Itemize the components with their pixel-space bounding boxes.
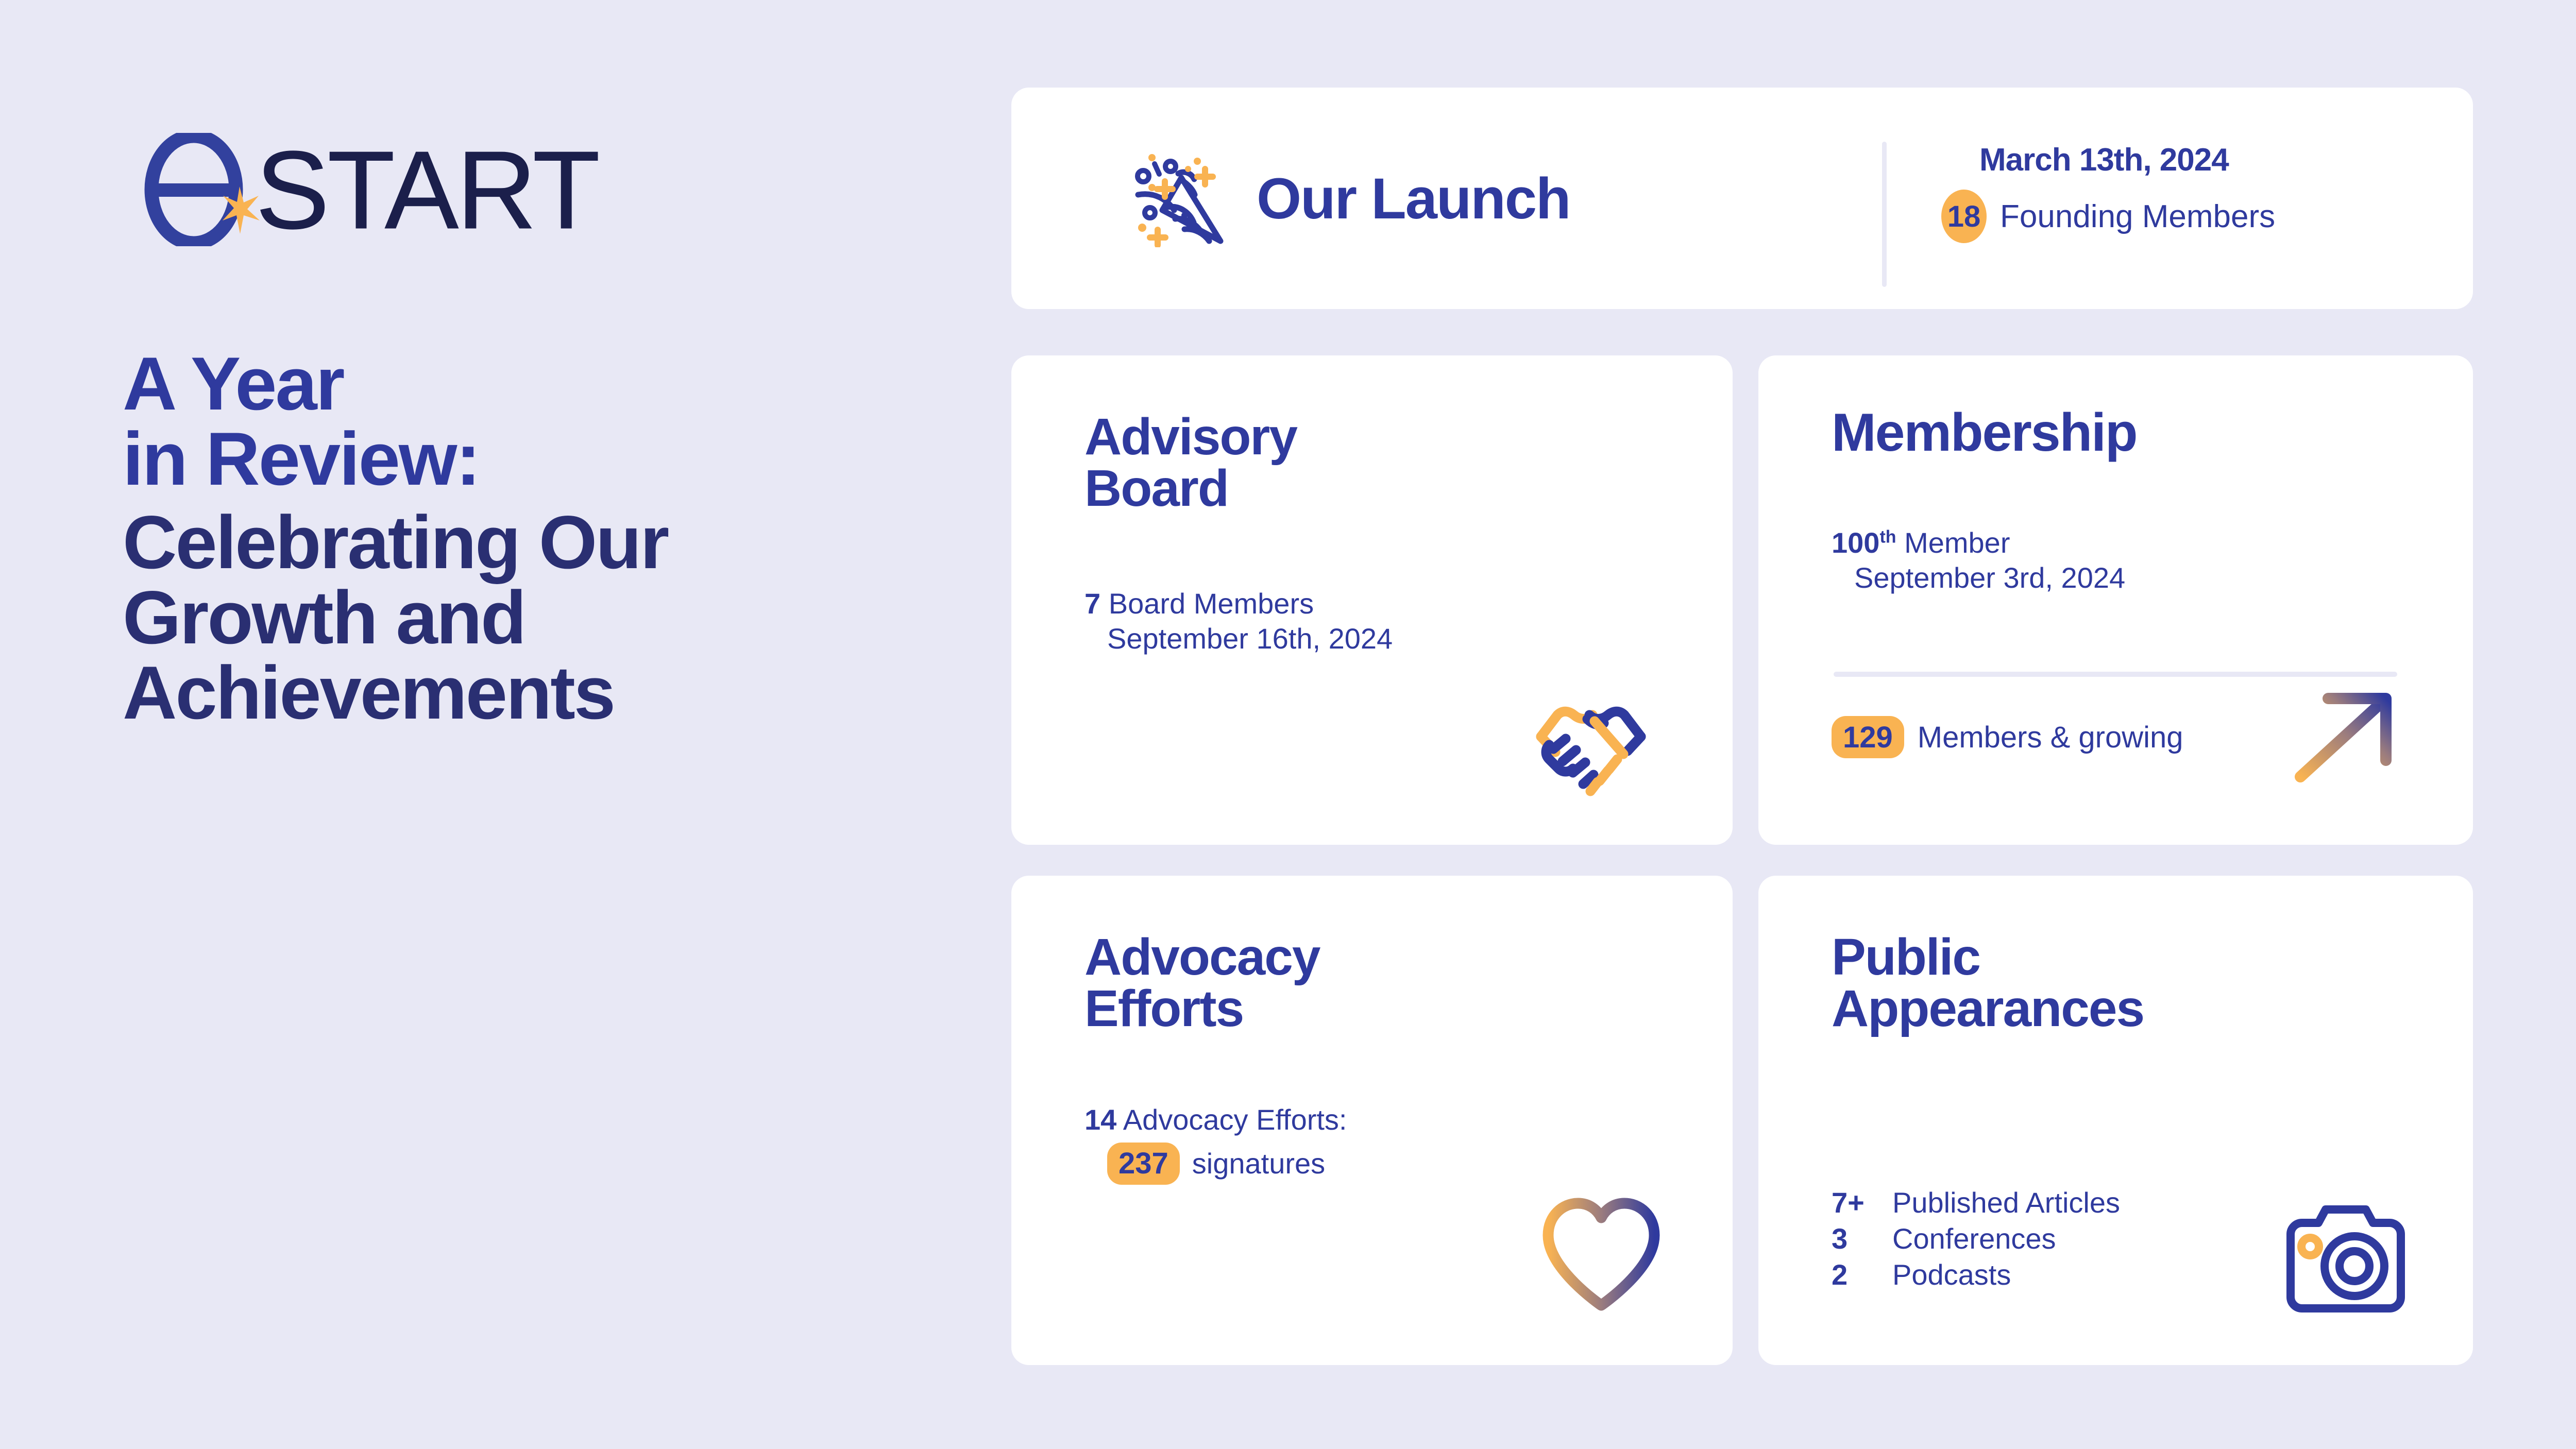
founding-members-label: Founding Members xyxy=(2000,198,2275,235)
headline-line-2: in Review: xyxy=(123,421,926,497)
membership-count-badge: 129 xyxy=(1832,716,1904,758)
launch-card-right: March 13th, 2024 18 Founding Members xyxy=(1941,142,2275,243)
public-row-count: 7+ xyxy=(1832,1185,1892,1221)
advisory-stat-line-1: 7 Board Members xyxy=(1084,586,1393,621)
card-advocacy-efforts: Advocacy Efforts 14 Advocacy Efforts: 23… xyxy=(1011,876,1733,1365)
heart-icon xyxy=(1537,1191,1666,1320)
card-advisory-board: Advisory Board 7 Board Members September… xyxy=(1011,355,1733,845)
membership-divider xyxy=(1834,672,2397,677)
page-title: A Year in Review: Celebrating Our Growth… xyxy=(123,346,926,730)
membership-stat-date: September 3rd, 2024 xyxy=(1832,560,2125,595)
advisory-title-line-2: Board xyxy=(1084,463,1297,514)
public-title-line-1: Public xyxy=(1832,931,2144,983)
launch-card-divider xyxy=(1882,142,1887,287)
advisory-title-line-1: Advisory xyxy=(1084,411,1297,463)
advisory-stat-label: Board Members xyxy=(1109,587,1314,620)
advocacy-signature-label: signatures xyxy=(1192,1146,1325,1181)
list-item: 3 Conferences xyxy=(1832,1221,2120,1257)
launch-card-left: Our Launch xyxy=(1124,149,1570,247)
growth-arrow-icon xyxy=(2284,683,2402,791)
headline-line-5: Achievements xyxy=(123,655,926,730)
card-our-launch: Our Launch March 13th, 2024 18 Founding … xyxy=(1011,88,2473,309)
left-panel: START A Year in Review: Celebrating Our … xyxy=(0,0,1010,1449)
launch-date: March 13th, 2024 xyxy=(1979,142,2275,178)
handshake-icon xyxy=(1527,689,1655,803)
launch-title: Our Launch xyxy=(1257,165,1570,232)
advocacy-stat-label: Advocacy Efforts: xyxy=(1123,1103,1347,1136)
card-membership: Membership 100th Member September 3rd, 2… xyxy=(1758,355,2473,845)
advocacy-efforts-stats: 14 Advocacy Efforts: 237 signatures xyxy=(1084,1102,1347,1185)
membership-stat-ordinal: th xyxy=(1879,527,1896,547)
advocacy-title-line-2: Efforts xyxy=(1084,983,1319,1034)
public-row-label: Podcasts xyxy=(1892,1257,2011,1293)
public-row-label: Conferences xyxy=(1892,1221,2056,1257)
list-item: 7+ Published Articles xyxy=(1832,1185,2120,1221)
membership-growth-label: Members & growing xyxy=(1918,720,2183,755)
list-item: 2 Podcasts xyxy=(1832,1257,2120,1293)
founding-members-badge: 18 xyxy=(1941,190,1987,243)
advisory-stat-number: 7 xyxy=(1084,587,1100,620)
public-appearances-title: Public Appearances xyxy=(1832,931,2144,1034)
advocacy-efforts-title: Advocacy Efforts xyxy=(1084,931,1319,1034)
advisory-stat-date: September 16th, 2024 xyxy=(1084,621,1393,656)
public-title-line-2: Appearances xyxy=(1832,983,2144,1034)
public-row-label: Published Articles xyxy=(1892,1185,2120,1221)
membership-stat-number: 100 xyxy=(1832,526,1879,559)
advocacy-signature-badge: 237 xyxy=(1107,1143,1180,1185)
membership-stat-line-1: 100th Member xyxy=(1832,525,2125,560)
advocacy-stat-number: 14 xyxy=(1084,1103,1116,1136)
public-appearances-list: 7+ Published Articles 3 Conferences 2 Po… xyxy=(1832,1185,2120,1293)
stats-card-grid: Our Launch March 13th, 2024 18 Founding … xyxy=(1011,88,2473,1365)
public-row-count: 2 xyxy=(1832,1257,1892,1293)
svg-text:START: START xyxy=(256,133,598,246)
card-public-appearances: Public Appearances 7+ Published Articles… xyxy=(1758,876,2473,1365)
membership-title: Membership xyxy=(1832,406,2137,459)
advocacy-title-line-1: Advocacy xyxy=(1084,931,1319,983)
membership-stats: 100th Member September 3rd, 2024 xyxy=(1832,525,2125,596)
advisory-board-title: Advisory Board xyxy=(1084,411,1297,514)
advocacy-signatures-row: 237 signatures xyxy=(1084,1143,1347,1185)
headline-line-1: A Year xyxy=(123,346,926,421)
public-row-count: 3 xyxy=(1832,1221,1892,1257)
membership-growth-row: 129 Members & growing xyxy=(1832,716,2183,758)
advocacy-stat-line-1: 14 Advocacy Efforts: xyxy=(1084,1102,1347,1137)
party-popper-icon xyxy=(1124,149,1227,247)
headline-line-4: Growth and xyxy=(123,580,926,655)
membership-stat-label: Member xyxy=(1904,526,2010,559)
camera-icon xyxy=(2281,1205,2410,1319)
founding-members-row: 18 Founding Members xyxy=(1941,190,2275,243)
headline-line-3: Celebrating Our xyxy=(123,505,926,580)
advisory-board-stats: 7 Board Members September 16th, 2024 xyxy=(1084,586,1393,657)
brand-logo: START xyxy=(138,133,705,246)
estart-logo-icon: START xyxy=(138,133,705,246)
